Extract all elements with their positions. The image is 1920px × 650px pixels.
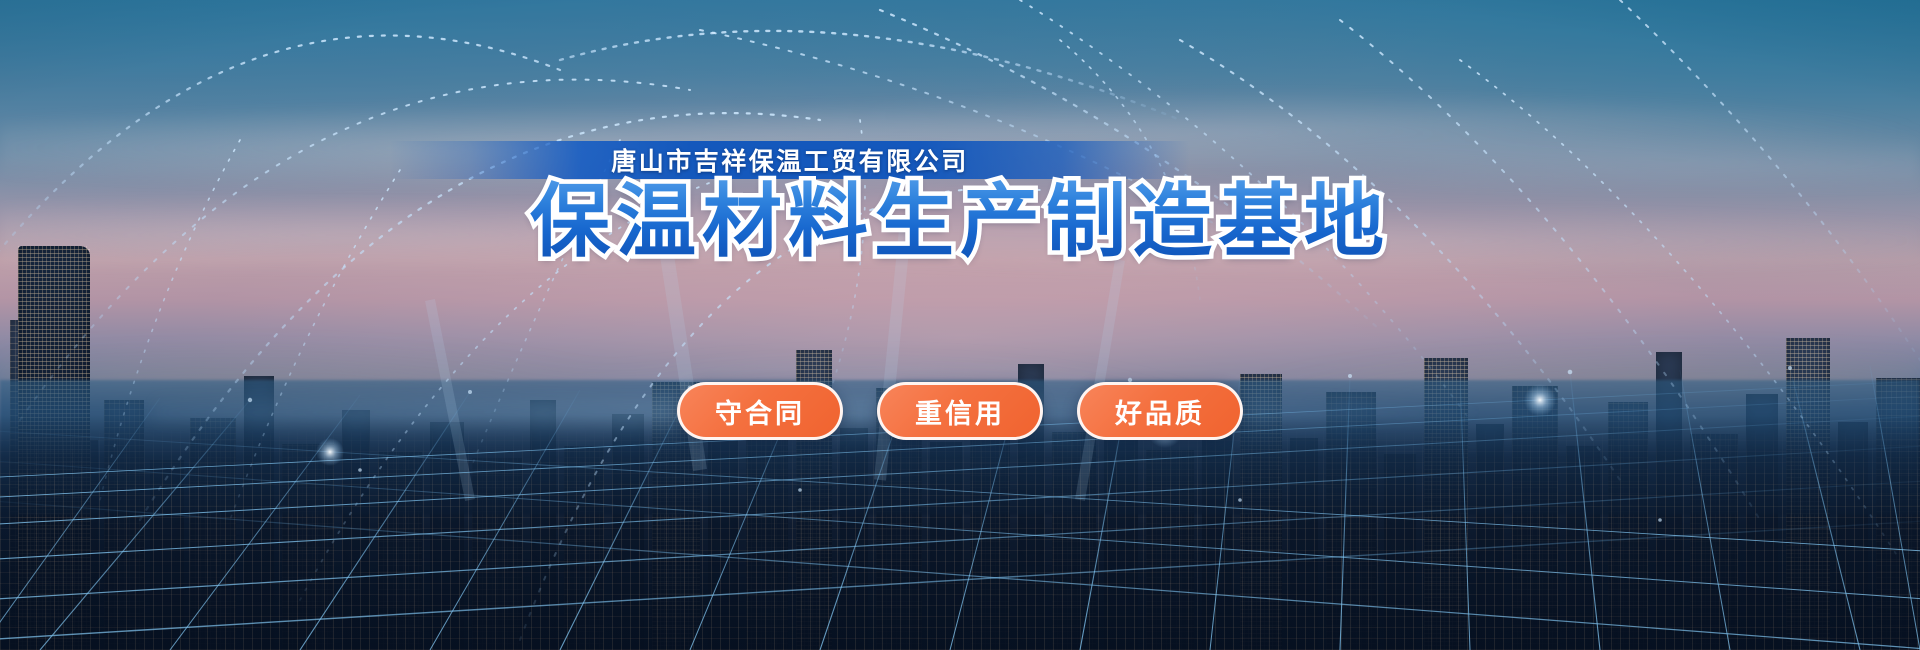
banner-content: 唐山市吉祥保温工贸有限公司 保温材料生产制造基地 保温材料生产制造基地 守合同 … — [0, 0, 1920, 650]
hero-banner: 唐山市吉祥保温工贸有限公司 保温材料生产制造基地 保温材料生产制造基地 守合同 … — [0, 0, 1920, 650]
company-name: 唐山市吉祥保温工贸有限公司 — [390, 141, 1190, 179]
badge-list: 守合同 重信用 好品质 — [0, 382, 1920, 440]
headline-wrapper: 保温材料生产制造基地 保温材料生产制造基地 — [0, 180, 1920, 264]
headline-text: 保温材料生产制造基地 — [530, 177, 1390, 266]
badge-zhong-xin-yong[interactable]: 重信用 — [877, 382, 1043, 440]
badge-hao-pin-zhi[interactable]: 好品质 — [1077, 382, 1243, 440]
badge-shou-he-tong[interactable]: 守合同 — [677, 382, 843, 440]
